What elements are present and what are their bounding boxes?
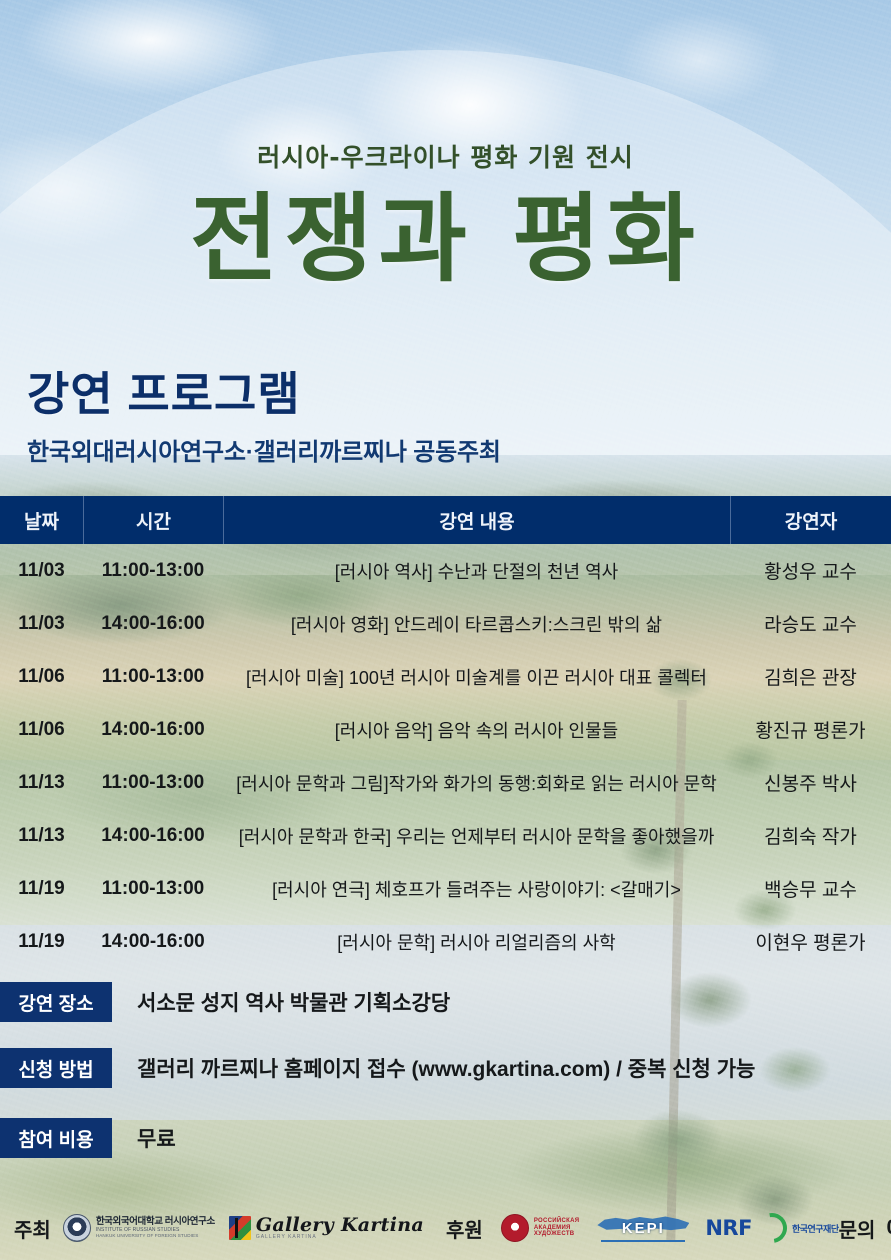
kepi-logo: KEPI — [597, 1212, 689, 1244]
cell-date: 11/06 — [0, 650, 83, 703]
hufs-russian-institute-logo: 한국외국어대학교 러시아연구소 INSTITUTE OF RUSSIAN STU… — [63, 1208, 215, 1248]
russian-academy-line1: РОССИЙСКАЯ — [534, 1218, 580, 1225]
nrf-korean-name: 한국연구재단 — [792, 1222, 839, 1235]
cell-speaker: 라승도 교수 — [730, 597, 891, 650]
table-header-row: 날짜 시간 강연 내용 강연자 — [0, 496, 891, 544]
cell-date: 11/13 — [0, 809, 83, 862]
info-label-venue: 강연 장소 — [0, 982, 112, 1022]
contact-label: 문의 — [839, 1214, 876, 1243]
table-row: 11/13 11:00-13:00 [러시아 문학과 그림]작가와 화가의 동행… — [0, 756, 891, 809]
kepi-underline — [601, 1240, 685, 1242]
cell-topic: [러시아 연극] 체호프가 들려주는 사랑이야기: <갈매기> — [223, 862, 730, 915]
cell-date: 11/03 — [0, 544, 83, 597]
cell-date: 11/03 — [0, 597, 83, 650]
cell-speaker: 백승무 교수 — [730, 862, 891, 915]
poster-root: 러시아-우크라이나 평화 기원 전시 전쟁과 평화 강연 프로그램 한국외대러시… — [0, 0, 891, 1260]
poster-content: 러시아-우크라이나 평화 기원 전시 전쟁과 평화 강연 프로그램 한국외대러시… — [0, 0, 891, 1260]
info-label-application: 신청 방법 — [0, 1048, 112, 1088]
cell-topic: [러시아 음악] 음악 속의 러시아 인물들 — [223, 703, 730, 756]
cell-time: 11:00-13:00 — [83, 544, 223, 597]
section-subtitle: 한국외대러시아연구소·갤러리까르찌나 공동주최 — [27, 432, 501, 467]
table-row: 11/13 14:00-16:00 [러시아 문학과 한국] 우리는 언제부터 … — [0, 809, 891, 862]
russian-academy-line2: АКАДЕМИЯ — [534, 1225, 580, 1232]
column-header-date: 날짜 — [0, 496, 83, 544]
section-title: 강연 프로그램 — [27, 358, 301, 424]
nrf-swoosh-icon — [751, 1207, 793, 1249]
gallery-kartina-logo: Gallery Kartina GALLERY KARTINA — [229, 1208, 424, 1248]
column-header-topic: 강연 내용 — [223, 496, 730, 544]
footer: 주최 한국외국어대학교 러시아연구소 INSTITUTE OF RUSSIAN … — [0, 1196, 891, 1260]
table-row: 11/06 14:00-16:00 [러시아 음악] 음악 속의 러시아 인물들… — [0, 703, 891, 756]
exhibition-eyebrow: 러시아-우크라이나 평화 기원 전시 — [0, 138, 891, 174]
table-row: 11/03 11:00-13:00 [러시아 역사] 수난과 단절의 천년 역사… — [0, 544, 891, 597]
cell-topic: [러시아 문학과 한국] 우리는 언제부터 러시아 문학을 좋아했을까 — [223, 809, 730, 862]
cell-time: 11:00-13:00 — [83, 756, 223, 809]
kepi-wordmark: KEPI — [622, 1220, 665, 1237]
column-header-speaker: 강연자 — [730, 496, 891, 544]
cell-time: 11:00-13:00 — [83, 650, 223, 703]
table-row: 11/19 14:00-16:00 [러시아 문학] 러시아 리얼리즘의 사학 … — [0, 915, 891, 968]
hufs-seal-icon — [63, 1214, 91, 1242]
info-value-application[interactable]: 갤러리 까르찌나 홈페이지 접수 (www.gkartina.com) / 중복… — [137, 1053, 755, 1083]
hufs-logo-korean: 한국외국어대학교 러시아연구소 — [96, 1217, 215, 1227]
cell-time: 14:00-16:00 — [83, 915, 223, 968]
nrf-wordmark: NRF — [705, 1218, 752, 1239]
table-row: 11/06 11:00-13:00 [러시아 미술] 100년 러시아 미술계를… — [0, 650, 891, 703]
info-label-fee: 참여 비용 — [0, 1118, 112, 1158]
cell-speaker: 이현우 평론가 — [730, 915, 891, 968]
cell-date: 11/19 — [0, 862, 83, 915]
cell-speaker: 황성우 교수 — [730, 544, 891, 597]
cell-time: 14:00-16:00 — [83, 703, 223, 756]
table-row: 11/19 11:00-13:00 [러시아 연극] 체호프가 들려주는 사랑이… — [0, 862, 891, 915]
russian-academy-line3: ХУДОЖЕСТВ — [534, 1231, 580, 1238]
info-value-venue: 서소문 성지 역사 박물관 기획소강당 — [137, 987, 450, 1017]
info-row-application: 신청 방법 갤러리 까르찌나 홈페이지 접수 (www.gkartina.com… — [0, 1048, 891, 1088]
cell-speaker: 김희숙 작가 — [730, 809, 891, 862]
russian-academy-of-arts-logo: РОССИЙСКАЯ АКАДЕМИЯ ХУДОЖЕСТВ — [501, 1208, 580, 1248]
gallery-kartina-name: Gallery Kartina — [256, 1216, 424, 1235]
column-header-time: 시간 — [83, 496, 223, 544]
cell-speaker: 신봉주 박사 — [730, 756, 891, 809]
info-value-fee: 무료 — [137, 1123, 176, 1153]
russian-academy-text: РОССИЙСКАЯ АКАДЕМИЯ ХУДОЖЕСТВ — [534, 1218, 580, 1238]
cell-speaker: 황진규 평론가 — [730, 703, 891, 756]
host-label: 주최 — [14, 1214, 51, 1243]
cell-topic: [러시아 영화] 안드레이 타르콥스키:스크린 밖의 삶 — [223, 597, 730, 650]
sponsor-label: 후원 — [446, 1214, 483, 1243]
page-title: 전쟁과 평화 — [0, 188, 891, 292]
cell-topic: [러시아 문학] 러시아 리얼리즘의 사학 — [223, 915, 730, 968]
gallery-kartina-text: Gallery Kartina GALLERY KARTINA — [256, 1216, 424, 1240]
cell-date: 11/06 — [0, 703, 83, 756]
cell-time: 14:00-16:00 — [83, 597, 223, 650]
cell-time: 11:00-13:00 — [83, 862, 223, 915]
contact-block: 문의 010-8878-8319 — [839, 1214, 891, 1243]
cell-time: 14:00-16:00 — [83, 809, 223, 862]
hufs-logo-text: 한국외국어대학교 러시아연구소 INSTITUTE OF RUSSIAN STU… — [96, 1217, 215, 1239]
info-row-fee: 참여 비용 무료 — [0, 1118, 891, 1158]
palette-icon — [229, 1216, 251, 1240]
cell-topic: [러시아 역사] 수난과 단절의 천년 역사 — [223, 544, 730, 597]
nrf-logo: NRF 한국연구재단 — [705, 1208, 838, 1248]
cell-date: 11/13 — [0, 756, 83, 809]
cell-speaker: 김희은 관장 — [730, 650, 891, 703]
schedule-table: 날짜 시간 강연 내용 강연자 11/03 11:00-13:00 [러시아 역… — [0, 496, 891, 968]
cell-date: 11/19 — [0, 915, 83, 968]
info-row-venue: 강연 장소 서소문 성지 역사 박물관 기획소강당 — [0, 982, 891, 1022]
russian-academy-seal-icon — [501, 1214, 529, 1242]
contact-number[interactable]: 010-8878-8319 — [886, 1216, 891, 1240]
hufs-logo-english2: HANKUK UNIVERSITY OF FOREIGN STUDIES — [96, 1234, 215, 1239]
table-row: 11/03 14:00-16:00 [러시아 영화] 안드레이 타르콥스키:스크… — [0, 597, 891, 650]
cell-topic: [러시아 문학과 그림]작가와 화가의 동행:회화로 읽는 러시아 문학 — [223, 756, 730, 809]
gallery-kartina-subtitle: GALLERY KARTINA — [256, 1235, 317, 1240]
cell-topic: [러시아 미술] 100년 러시아 미술계를 이끈 러시아 대표 콜렉터 — [223, 650, 730, 703]
